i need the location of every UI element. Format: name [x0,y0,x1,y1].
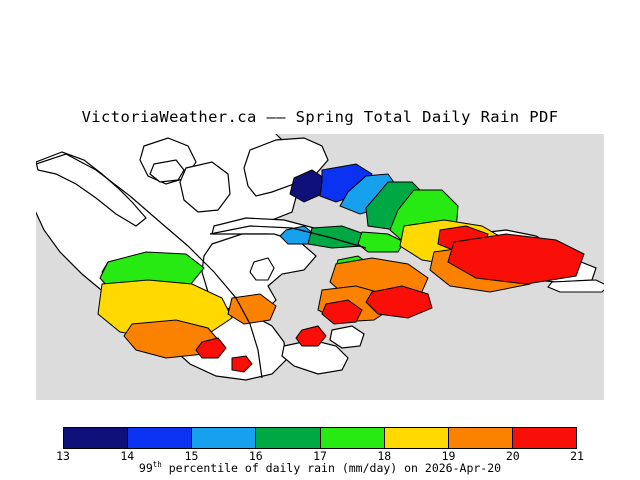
colorbar-band-16-17[interactable] [256,428,320,448]
figure-title: VictoriaWeather.ca —— Spring Total Daily… [0,108,640,126]
colorbar-band-19-20[interactable] [449,428,513,448]
caption-percentile-number: 99 [139,461,153,475]
colorbar-band-20-21[interactable] [513,428,576,448]
colorbar-container[interactable] [63,427,577,449]
colorbar-band-14-15[interactable] [128,428,192,448]
caption-ordinal-suffix: th [153,460,162,469]
weather-map-figure: VictoriaWeather.ca —— Spring Total Daily… [0,0,640,480]
map-panel[interactable] [36,134,604,400]
map-canvas[interactable] [36,134,604,400]
colorbar-band-15-16[interactable] [192,428,256,448]
colorbar[interactable] [63,427,577,449]
land-east-thin-bar [548,280,604,292]
land-south-small-isle [330,326,364,348]
caption-description: percentile of daily rain (mm/day) on 202… [162,461,501,475]
colorbar-band-18-19[interactable] [385,428,449,448]
colorbar-band-13-14[interactable] [64,428,128,448]
colorbar-band-17-18[interactable] [321,428,385,448]
colorbar-caption: 99th percentile of daily rain (mm/day) o… [0,461,640,475]
land-island-north-c [150,160,184,182]
